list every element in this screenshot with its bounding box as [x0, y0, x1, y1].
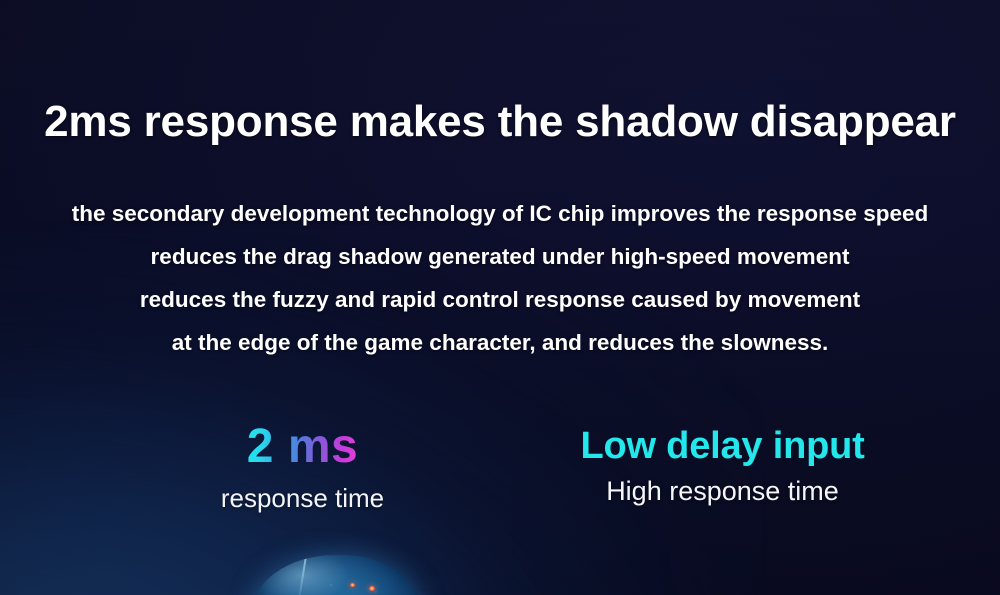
paragraph-line-4: at the edge of the game character, and r… — [0, 321, 1000, 364]
stat-low-delay-input-value: Low delay input — [580, 422, 864, 470]
stats-row: 2 ms response time Low delay input High … — [0, 418, 1000, 543]
description-paragraph: the secondary development technology of … — [0, 192, 1000, 364]
paragraph-line-2: reduces the drag shadow generated under … — [0, 235, 1000, 278]
stat-response-time: 2 ms response time — [140, 418, 465, 516]
stat-low-delay-input: Low delay input High response time — [480, 422, 965, 510]
promo-banner: 2ms response makes the shadow disappear … — [0, 0, 1000, 595]
stat-response-time-caption: response time — [140, 480, 465, 516]
paragraph-line-3: reduces the fuzzy and rapid control resp… — [0, 278, 1000, 321]
stat-low-delay-input-caption: High response time — [480, 472, 965, 510]
paragraph-line-1: the secondary development technology of … — [0, 192, 1000, 235]
page-title: 2ms response makes the shadow disappear — [0, 97, 1000, 147]
stat-response-time-value: 2 ms — [247, 418, 358, 476]
